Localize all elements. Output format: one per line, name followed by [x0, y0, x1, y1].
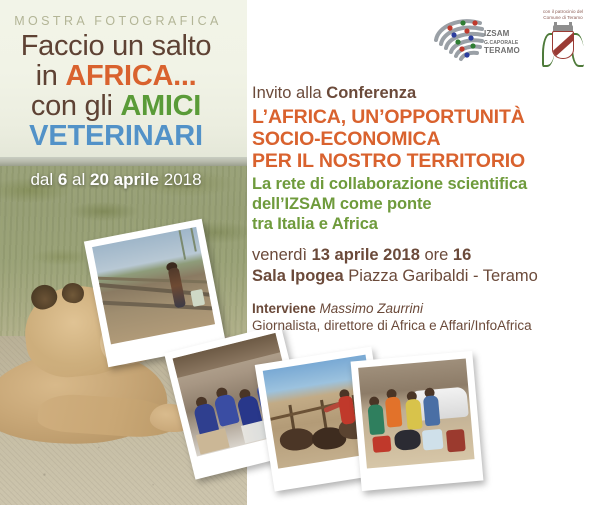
daterange-day-to: 20 aprile	[90, 170, 159, 189]
speaker-label: Interviene	[252, 301, 320, 316]
headline-line-3: con gli AMICI	[0, 91, 232, 121]
conference-title-line-3: PER IL NOSTRO TERRITORIO	[252, 150, 594, 172]
conference-subtitle: La rete di collaborazione scientifica de…	[252, 175, 594, 234]
izsam-city: TERAMO	[484, 47, 522, 55]
crest-band	[552, 31, 574, 58]
headline-line-1: Faccio un salto	[0, 31, 232, 61]
invite-prefix: Invito alla	[252, 84, 326, 102]
conference-title: L’AFRICA, UN’OPPORTUNITÀ SOCIO-ECONOMICA…	[252, 106, 594, 172]
event-weekday: venerdì	[252, 246, 312, 264]
photo-detail-chair	[446, 429, 466, 452]
photo-detail-pole	[190, 228, 197, 252]
headline-line-3-prefix: con gli	[31, 90, 121, 122]
photo-detail-cattle	[278, 426, 315, 453]
photo-detail-person	[367, 404, 385, 435]
photo-detail-bag	[422, 429, 444, 451]
photo-detail-bag	[394, 429, 422, 451]
headline-line-2: in AFRICA...	[0, 61, 232, 91]
patronage-caption: con il patrocinio del Comune di Teramo	[531, 9, 595, 21]
event-time: 16	[453, 246, 471, 264]
polaroid-photo-market	[351, 351, 484, 491]
izsam-wordmark: IZSAM G.CAPORALE TERAMO	[484, 30, 522, 55]
conference-subtitle-line-1: La rete di collaborazione scientifica	[252, 175, 594, 195]
izsam-name: IZSAM G.CAPORALE	[484, 30, 522, 47]
izsam-acronym: IZSAM	[484, 29, 509, 38]
headline-line-2-prefix: in	[36, 60, 66, 92]
daterange-year: 2018	[159, 170, 202, 189]
photo-detail-person	[423, 395, 441, 426]
patronage-caption-line-2: Comune di Teramo	[531, 15, 595, 21]
photo-detail-person	[405, 399, 423, 430]
crest-shield	[552, 31, 574, 59]
event-venue: Sala Ipogea Piazza Garibaldi - Teramo	[252, 266, 594, 287]
headline-accent-africa: AFRICA...	[65, 60, 196, 92]
conference-subtitle-line-2: dell’IZSAM come ponte	[252, 195, 594, 215]
venue-address: Piazza Garibaldi - Teramo	[344, 267, 538, 285]
speaker-line: Interviene Massimo Zaurrini	[252, 300, 594, 318]
daterange-middle: al	[67, 170, 90, 189]
exhibition-headline: Faccio un salto in AFRICA... con gli AMI…	[0, 31, 232, 152]
patronage-logo: con il patrocinio del Comune di Teramo	[531, 6, 595, 72]
conference-info: Invito alla Conferenza L’AFRICA, UN’OPPO…	[252, 84, 594, 335]
conference-title-line-1: L’AFRICA, UN’OPPORTUNITÀ	[252, 106, 594, 128]
poster-canvas: MOSTRA FOTOGRAFICA Faccio un salto in AF…	[0, 0, 600, 505]
exhibition-kicker: MOSTRA FOTOGRAFICA	[0, 14, 236, 28]
conference-subtitle-line-3: tra Italia e Africa	[252, 215, 594, 235]
daterange-prefix: dal	[30, 170, 57, 189]
invite-line: Invito alla Conferenza	[252, 84, 594, 103]
photo-detail-bag	[372, 435, 391, 453]
comune-crest-icon	[541, 23, 585, 69]
izsam-logo: IZSAM G.CAPORALE TERAMO	[430, 14, 522, 68]
speaker-name: Massimo Zaurrini	[320, 301, 424, 316]
exhibition-daterange: dal 6 al 20 aprile 2018	[0, 170, 232, 190]
photo-railway	[92, 227, 215, 344]
photo-detail-rail	[96, 277, 215, 284]
event-datetime: venerdì 13 aprile 2018 ore 16	[252, 245, 594, 266]
venue-hall: Sala Ipogea	[252, 267, 344, 285]
logo-group: IZSAM G.CAPORALE TERAMO con il patrocini…	[430, 6, 595, 72]
invite-bold: Conferenza	[326, 84, 416, 102]
speaker-role: Giornalista, direttore di Africa e Affar…	[252, 317, 594, 335]
speaker-block: Interviene Massimo Zaurrini Giornalista,…	[252, 300, 594, 335]
event-time-label: ore	[420, 246, 453, 264]
event-date: 13 aprile 2018	[312, 246, 420, 264]
photo-detail-person	[168, 267, 186, 308]
photo-market	[358, 359, 474, 469]
daterange-day-from: 6	[58, 170, 67, 189]
headline-accent-veterinari: VETERINARI	[0, 121, 232, 151]
conference-title-line-2: SOCIO-ECONOMICA	[252, 128, 594, 150]
event-when-where: venerdì 13 aprile 2018 ore 16 Sala Ipoge…	[252, 245, 594, 286]
photo-detail-person	[385, 396, 403, 427]
photo-detail-pole	[178, 230, 186, 260]
headline-accent-amici: AMICI	[120, 90, 201, 122]
